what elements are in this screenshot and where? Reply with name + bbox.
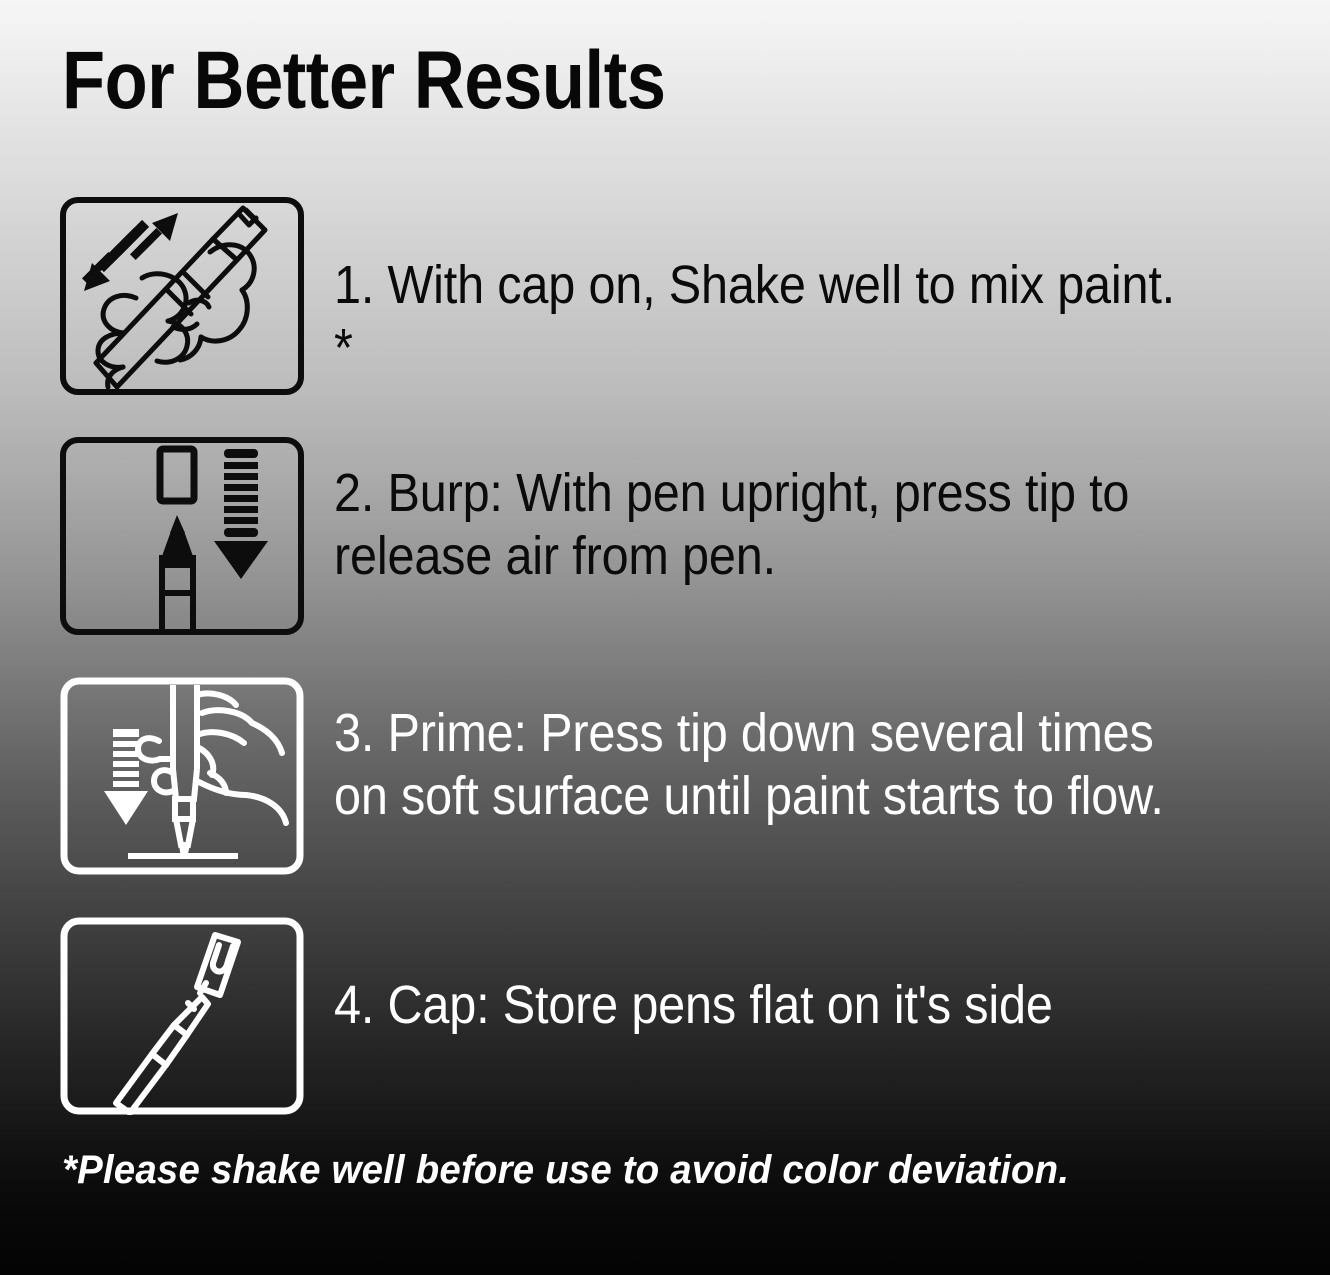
step-4-text: 4. Cap: Store pens flat on it's side xyxy=(334,974,1198,1037)
instruction-poster: For Better Results xyxy=(0,0,1330,1275)
shake-pen-icon xyxy=(60,197,304,395)
step-2-text: 2. Burp: With pen upright, press tip to … xyxy=(334,462,1198,588)
prime-press-tip-icon xyxy=(60,677,304,875)
step-3-text: 3. Prime: Press tip down several times o… xyxy=(334,702,1198,828)
instruction-step-4: 4. Cap: Store pens flat on it's side xyxy=(0,917,1330,1117)
page-title: For Better Results xyxy=(62,40,666,122)
step-1-text: 1. With cap on, Shake well to mix paint.… xyxy=(334,254,1198,380)
footnote-text: *Please shake well before use to avoid c… xyxy=(62,1148,1069,1193)
instruction-step-1: 1. With cap on, Shake well to mix paint.… xyxy=(0,197,1330,397)
instruction-step-3: 3. Prime: Press tip down several times o… xyxy=(0,677,1330,877)
instruction-step-2: 2. Burp: With pen upright, press tip to … xyxy=(0,437,1330,637)
cap-store-flat-icon xyxy=(60,917,304,1115)
burp-pen-upright-icon xyxy=(60,437,304,635)
